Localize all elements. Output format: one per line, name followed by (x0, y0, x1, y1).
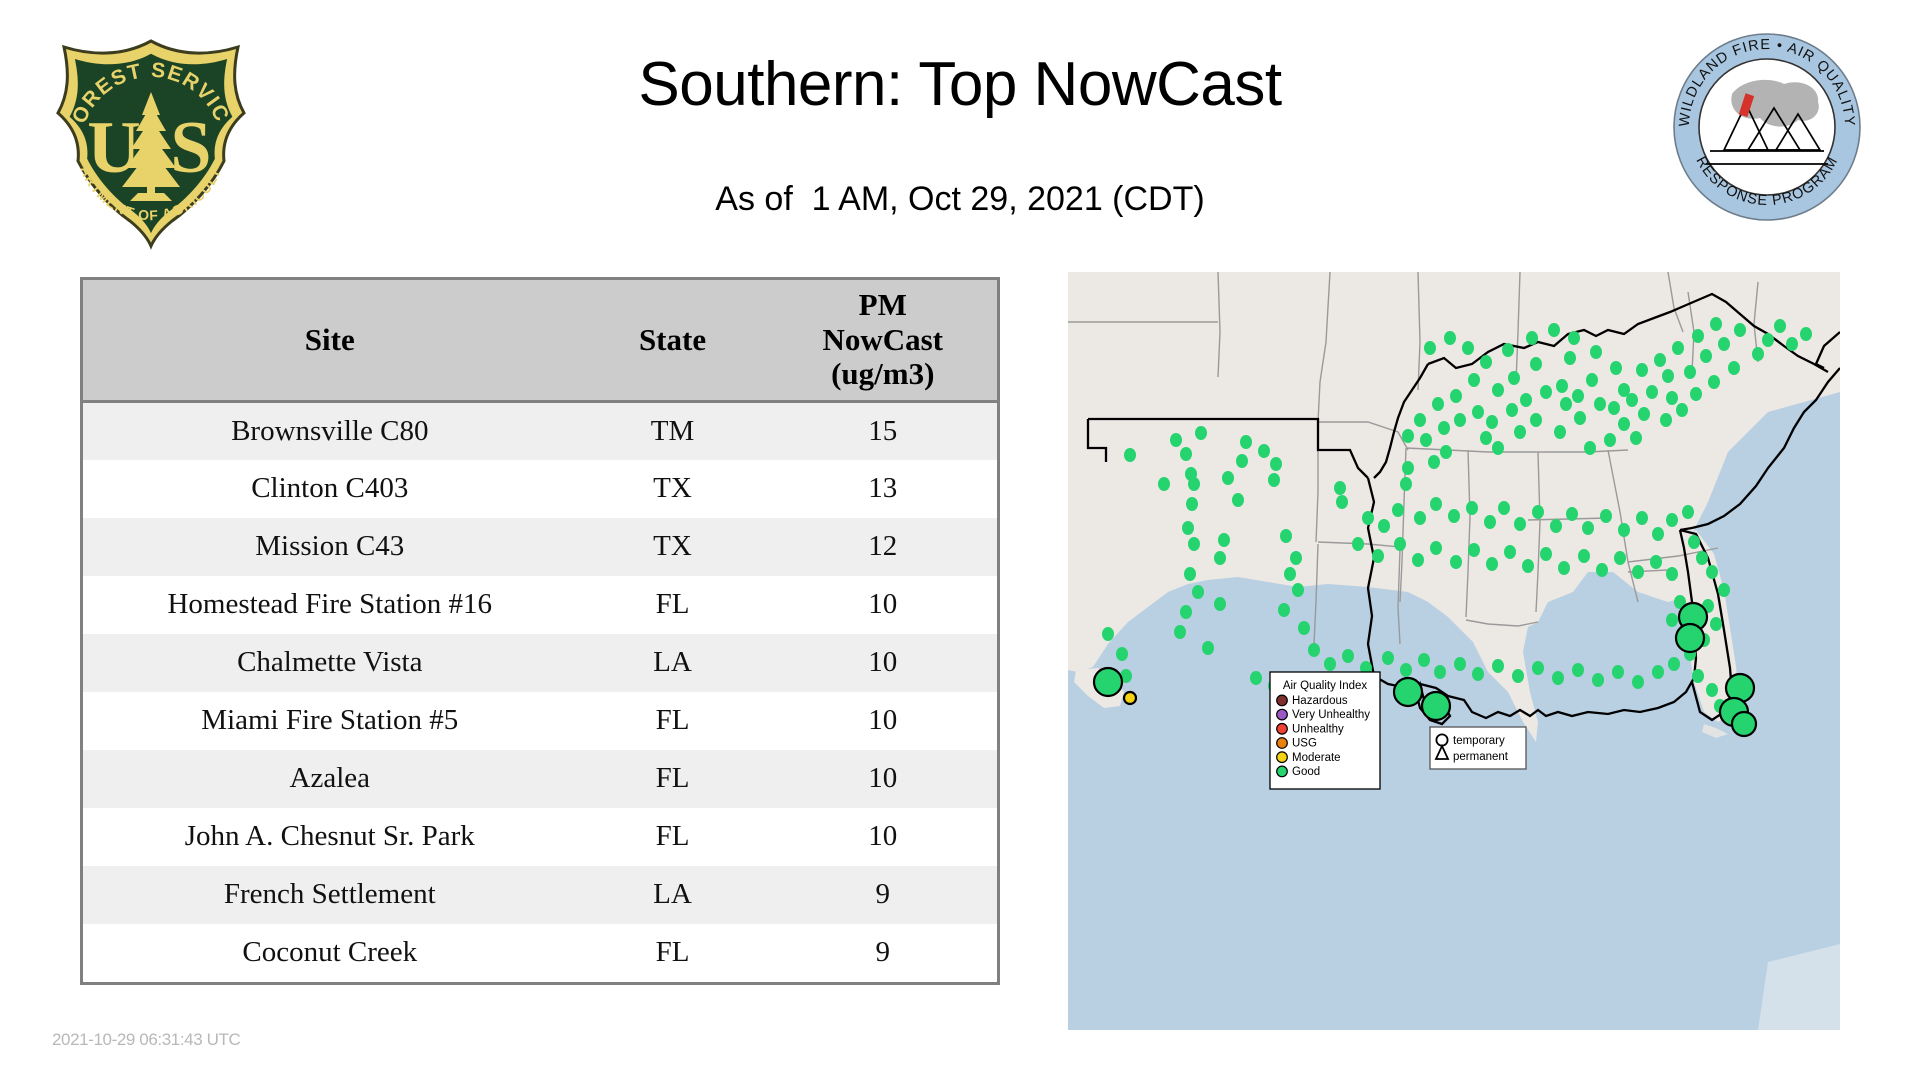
table-row: Homestead Fire Station #16FL10 (83, 576, 997, 634)
table-row: Brownsville C80TM15 (83, 402, 997, 460)
aqi-legend-label-unhealthy: Unhealthy (1292, 723, 1344, 735)
cell-site: John A. Chesnut Sr. Park (83, 808, 577, 866)
cell-state: FL (577, 924, 769, 982)
cell-pm-nowcast: 10 (768, 750, 997, 808)
symbol-legend-label-temporary: temporary (1453, 735, 1505, 747)
cell-state: LA (577, 634, 769, 692)
table-row: AzaleaFL10 (83, 750, 997, 808)
cell-state: TX (577, 518, 769, 576)
aqi-legend-label-hazardous: Hazardous (1292, 695, 1348, 707)
cell-site: Chalmette Vista (83, 634, 577, 692)
monitor-brownsville-c80 (1094, 668, 1122, 696)
table-row: Chalmette VistaLA10 (83, 634, 997, 692)
top-nowcast-table: Site State PM NowCast (ug/m3) Brownsvill… (80, 277, 1000, 985)
aqi-legend-swatch-good (1277, 766, 1288, 777)
cell-state: FL (577, 692, 769, 750)
page-title: Southern: Top NowCast (0, 52, 1920, 117)
map-canvas: Air Quality Index HazardousVery Unhealth… (1068, 272, 1840, 1030)
cell-pm-nowcast: 13 (768, 460, 997, 518)
aqi-legend-title: Air Quality Index (1283, 680, 1368, 692)
aqi-legend-label-moderate: Moderate (1292, 752, 1341, 764)
cell-site: Homestead Fire Station #16 (83, 576, 577, 634)
cell-state: TM (577, 402, 769, 460)
generation-timestamp: 2021-10-29 06:31:43 UTC (52, 1030, 240, 1050)
cell-pm-nowcast: 12 (768, 518, 997, 576)
monitor-french-settlement (1422, 692, 1450, 720)
cell-pm-nowcast: 15 (768, 402, 997, 460)
cell-site: Azalea (83, 750, 577, 808)
cell-pm-nowcast: 10 (768, 692, 997, 750)
table-row: Mission C43TX12 (83, 518, 997, 576)
column-header-pm-line3: (ug/m3) (772, 357, 993, 392)
symbol-legend: temporary permanent (1430, 727, 1526, 769)
aqi-legend-label-good: Good (1292, 766, 1320, 778)
monitor-chalmette-vista (1394, 678, 1422, 706)
table-row: John A. Chesnut Sr. ParkFL10 (83, 808, 997, 866)
table-row: Coconut CreekFL9 (83, 924, 997, 982)
monitor-homestead-fire-station-16 (1732, 712, 1756, 736)
cell-site: Miami Fire Station #5 (83, 692, 577, 750)
monitor-mission-c43 (1124, 692, 1136, 704)
aqi-legend-swatch-hazardous (1277, 695, 1288, 706)
monitor-john-a-chesnut-sr-park (1676, 624, 1704, 652)
table-row: Clinton C403TX13 (83, 460, 997, 518)
cell-pm-nowcast: 9 (768, 924, 997, 982)
cell-pm-nowcast: 9 (768, 866, 997, 924)
table-row: Miami Fire Station #5FL10 (83, 692, 997, 750)
cell-site: Brownsville C80 (83, 402, 577, 460)
slide-root: FOREST SERVICE U S DEPARTMENT OF AGRICUL… (0, 0, 1920, 1080)
monitor-map[interactable]: Air Quality Index HazardousVery Unhealth… (1068, 272, 1840, 1030)
cell-state: LA (577, 866, 769, 924)
aqi-legend-swatch-unhealthy (1277, 724, 1288, 735)
wildland-fire-air-quality-seal: WILDLAND FIRE • AIR QUALITY RESPONSE PRO… (1672, 32, 1862, 222)
aqi-legend-swatch-moderate (1277, 752, 1288, 763)
cell-state: FL (577, 750, 769, 808)
table-row: French SettlementLA9 (83, 866, 997, 924)
aqi-legend-label-usg: USG (1292, 738, 1317, 750)
cell-state: FL (577, 808, 769, 866)
cell-pm-nowcast: 10 (768, 576, 997, 634)
cell-site: Clinton C403 (83, 460, 577, 518)
aqi-legend-label-very-unhealthy: Very Unhealthy (1292, 709, 1370, 721)
cell-site: Coconut Creek (83, 924, 577, 982)
cell-site: Mission C43 (83, 518, 577, 576)
cell-site: French Settlement (83, 866, 577, 924)
column-header-pm-line2: NowCast (772, 323, 993, 358)
cell-pm-nowcast: 10 (768, 808, 997, 866)
aqi-legend-swatch-very-unhealthy (1277, 709, 1288, 720)
cell-pm-nowcast: 10 (768, 634, 997, 692)
column-header-state: State (577, 280, 769, 402)
column-header-site: Site (83, 280, 577, 402)
aqi-legend: Air Quality Index HazardousVery Unhealth… (1270, 672, 1380, 789)
column-header-pm-line1: PM (772, 288, 993, 323)
table-header-row: Site State PM NowCast (ug/m3) (83, 280, 997, 402)
symbol-legend-label-permanent: permanent (1453, 751, 1509, 763)
column-header-pm-nowcast: PM NowCast (ug/m3) (768, 280, 997, 402)
aqi-legend-swatch-usg (1277, 738, 1288, 749)
page-subtitle: As of 1 AM, Oct 29, 2021 (CDT) (0, 180, 1920, 219)
cell-state: TX (577, 460, 769, 518)
table-body: Brownsville C80TM15Clinton C403TX13Missi… (83, 402, 997, 982)
cell-state: FL (577, 576, 769, 634)
